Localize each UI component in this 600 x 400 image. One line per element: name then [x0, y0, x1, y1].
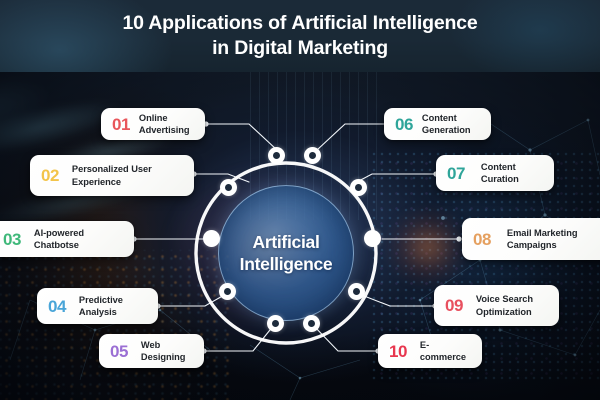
item-card-05[interactable]: 05 Web Designing [99, 334, 204, 368]
connector-06 [317, 124, 391, 150]
page-title: 10 Applications of Artificial Intelligen… [123, 11, 478, 36]
item-number-03: 03 [3, 231, 21, 248]
hub-node-08[interactable] [364, 230, 381, 247]
item-number-02: 02 [41, 167, 59, 184]
item-card-02[interactable]: 02 Personalized UserExperience [30, 155, 194, 196]
hub-node-dot [272, 320, 279, 327]
item-label-02: Personalized UserExperience [72, 163, 152, 188]
hub-node-03[interactable] [203, 230, 220, 247]
hub-node-dot [308, 320, 315, 327]
item-label-07: Content Curation [481, 161, 543, 186]
item-label-03: AI-powered Chatbotse [34, 227, 123, 252]
hub-node-05[interactable] [267, 315, 284, 332]
hub-node-dot [224, 288, 231, 295]
item-label-01: Online Advertising [139, 112, 194, 137]
hub-node-dot [208, 235, 215, 242]
hub-node-dot [369, 235, 376, 242]
item-label-06: Content Generation [422, 112, 480, 137]
item-label-04: Predictive Analysis [79, 294, 147, 319]
item-number-08: 08 [473, 231, 491, 248]
item-card-07[interactable]: 07 Content Curation [436, 155, 554, 191]
page-subtitle: in Digital Marketing [212, 36, 388, 61]
connector-01 [205, 124, 277, 150]
item-card-01[interactable]: 01 Online Advertising [101, 108, 205, 140]
page-header: 10 Applications of Artificial Intelligen… [0, 0, 600, 72]
hub-node-dot [353, 288, 360, 295]
hub-node-02[interactable] [220, 179, 237, 196]
hub-node-09[interactable] [348, 283, 365, 300]
hub-node-10[interactable] [303, 315, 320, 332]
item-number-07: 07 [447, 165, 465, 182]
item-number-05: 05 [110, 343, 128, 360]
item-card-04[interactable]: 04 Predictive Analysis [37, 288, 158, 324]
item-card-08[interactable]: 08 Email MarketingCampaigns [462, 218, 600, 260]
hub-node-07[interactable] [350, 179, 367, 196]
hub-core-circle: Artificial Intelligence [218, 185, 354, 321]
hub-node-01[interactable] [268, 147, 285, 164]
infographic-canvas: 10 Applications of Artificial Intelligen… [0, 0, 600, 400]
hub-node-dot [273, 152, 280, 159]
item-number-06: 06 [395, 116, 413, 133]
item-label-10: E-commerce [420, 339, 471, 364]
hub-node-04[interactable] [219, 283, 236, 300]
hub-node-dot [309, 152, 316, 159]
item-number-04: 04 [48, 298, 66, 315]
item-number-09: 09 [445, 297, 463, 314]
hub-label-line1: Artificial [252, 231, 319, 253]
item-card-06[interactable]: 06 Content Generation [384, 108, 491, 140]
item-card-10[interactable]: 10 E-commerce [378, 334, 482, 368]
hub-node-dot [225, 184, 232, 191]
item-number-01: 01 [112, 116, 130, 133]
hub-label-line2: Intelligence [240, 253, 333, 275]
item-label-05: Web Designing [141, 339, 193, 364]
hub-node-dot [355, 184, 362, 191]
item-card-03[interactable]: 03 AI-powered Chatbotse [0, 221, 134, 257]
item-label-08: Email MarketingCampaigns [507, 227, 578, 252]
item-label-09: Voice SearchOptimization [476, 293, 533, 318]
title-part-one: 10 Applications of [123, 12, 292, 34]
hub-node-06[interactable] [304, 147, 321, 164]
item-card-09[interactable]: 09 Voice SearchOptimization [434, 285, 559, 326]
item-number-10: 10 [389, 343, 407, 360]
title-part-two: Artificial Intelligence [291, 12, 477, 34]
